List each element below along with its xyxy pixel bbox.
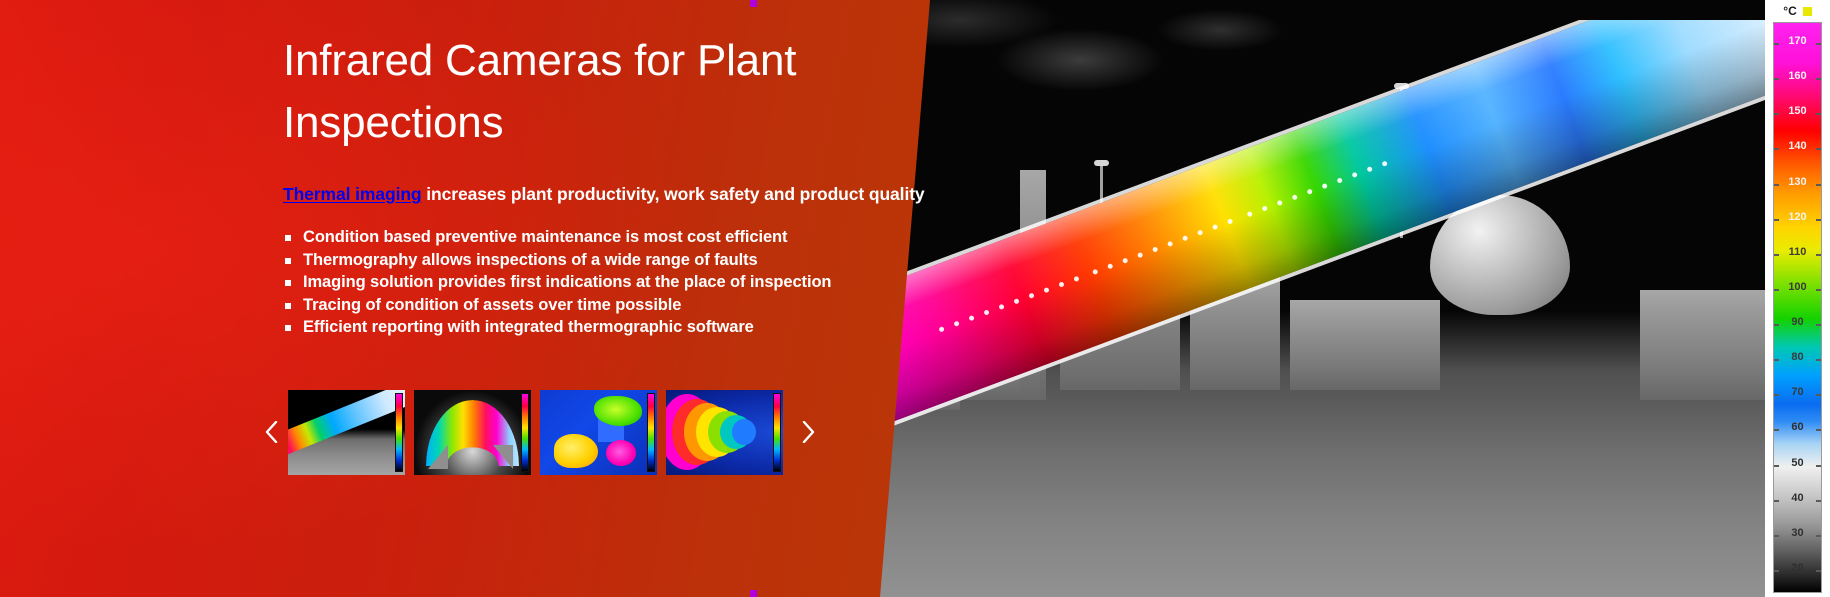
chevron-right-icon: [802, 421, 815, 443]
tick-label: 100: [1774, 281, 1821, 293]
temperature-colorbar: 1701601501401301201101009080706050403020: [1773, 22, 1822, 593]
thumb-thermal-pipe: [288, 390, 405, 458]
carousel-thumbnails: [288, 390, 783, 475]
tick-label: 20: [1774, 562, 1821, 574]
thumb-temperature-scale: [395, 393, 403, 472]
temperature-scale-header: °C: [1765, 0, 1830, 22]
list-item: Tracing of condition of assets over time…: [283, 294, 923, 317]
thumb-hottest-patch: [606, 440, 636, 466]
tick-label: 80: [1774, 351, 1821, 363]
tick-label: 110: [1774, 246, 1821, 258]
hero-content: Infrared Cameras for Plant Inspections T…: [283, 0, 923, 339]
tick-label: 160: [1774, 70, 1821, 82]
scale-marker-icon: [1803, 7, 1812, 16]
tick-label: 30: [1774, 527, 1821, 539]
tick-label: 170: [1774, 35, 1821, 47]
list-item: Imaging solution provides first indicati…: [283, 271, 923, 294]
thumb-hot-patch: [554, 434, 598, 468]
thumb-ring: [732, 419, 756, 445]
thermal-imaging-link[interactable]: Thermal imaging: [283, 184, 422, 204]
carousel-thumbnail-4[interactable]: [666, 390, 783, 475]
carousel-thumbnail-2[interactable]: [414, 390, 531, 475]
carousel-thumbnail-3[interactable]: [540, 390, 657, 475]
tick-label: 130: [1774, 176, 1821, 188]
tick-label: 120: [1774, 211, 1821, 223]
tick-label: 50: [1774, 457, 1821, 469]
temperature-unit-label: °C: [1783, 4, 1796, 18]
kiln-overlay-region: [860, 20, 1830, 540]
tick-label: 60: [1774, 421, 1821, 433]
list-item: Efficient reporting with integrated ther…: [283, 316, 923, 339]
list-item: Thermography allows inspections of a wid…: [283, 249, 923, 272]
thumb-temperature-scale: [773, 393, 781, 472]
accent-mark-bottom: [750, 590, 757, 597]
colorbar-ticks: 1701601501401301201101009080706050403020: [1774, 23, 1821, 592]
hero-subtitle-rest: increases plant productivity, work safet…: [422, 184, 925, 204]
thumb-temperature-scale: [647, 393, 655, 472]
thumb-temperature-scale: [521, 393, 529, 472]
feature-list: Condition based preventive maintenance i…: [283, 226, 923, 339]
tick-label: 90: [1774, 316, 1821, 328]
hero-banner: Infrared Cameras for Plant Inspections T…: [0, 0, 1830, 597]
tick-label: 150: [1774, 105, 1821, 117]
carousel-prev-button[interactable]: [255, 402, 288, 462]
page-title: Infrared Cameras for Plant Inspections: [283, 30, 823, 154]
chevron-left-icon: [265, 421, 278, 443]
image-carousel: [255, 386, 825, 478]
tick-label: 70: [1774, 386, 1821, 398]
tick-label: 140: [1774, 140, 1821, 152]
list-item: Condition based preventive maintenance i…: [283, 226, 923, 249]
thumb-rotor-wedge-left: [428, 445, 448, 469]
kiln-shading: [860, 20, 1830, 448]
hero-subtitle: Thermal imaging increases plant producti…: [283, 184, 923, 205]
thumb-rotor-wedge-right: [493, 445, 513, 469]
carousel-thumbnail-1[interactable]: [288, 390, 405, 475]
rotary-kiln-thermal-overlay: [860, 20, 1830, 448]
thumb-warm-patch: [594, 396, 642, 426]
temperature-scale-legend: °C 1701601501401301201101009080706050403…: [1765, 0, 1830, 597]
tick-label: 40: [1774, 492, 1821, 504]
carousel-next-button[interactable]: [792, 402, 825, 462]
